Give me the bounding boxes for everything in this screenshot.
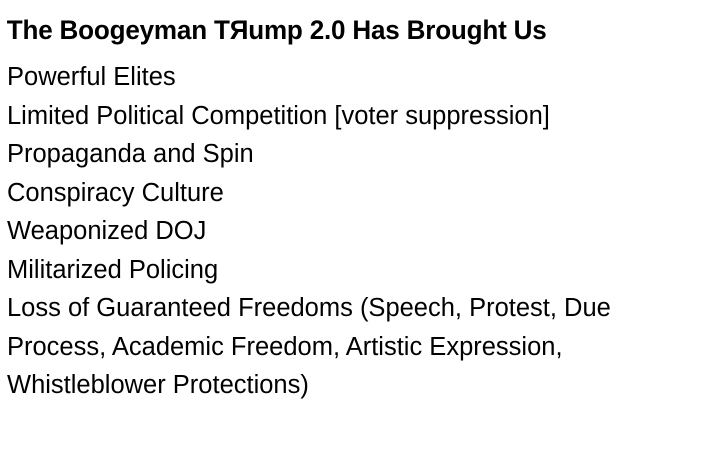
list-item: Militarized Policing	[7, 251, 715, 290]
page-title: The Boogeyman TЯump 2.0 Has Brought Us	[0, 0, 690, 47]
list-item: Propaganda and Spin	[7, 135, 715, 174]
list-item: Powerful Elites	[7, 58, 715, 97]
text-slide: The Boogeyman TЯump 2.0 Has Brought Us P…	[0, 0, 715, 463]
list-item: Weaponized DOJ	[7, 212, 715, 251]
list-item: Loss of Guaranteed Freedoms (Speech, Pro…	[7, 289, 679, 405]
list-item: Limited Political Competition [voter sup…	[7, 97, 715, 136]
statement-list: Powerful Elites Limited Political Compet…	[0, 47, 715, 405]
list-item: Conspiracy Culture	[7, 174, 715, 213]
